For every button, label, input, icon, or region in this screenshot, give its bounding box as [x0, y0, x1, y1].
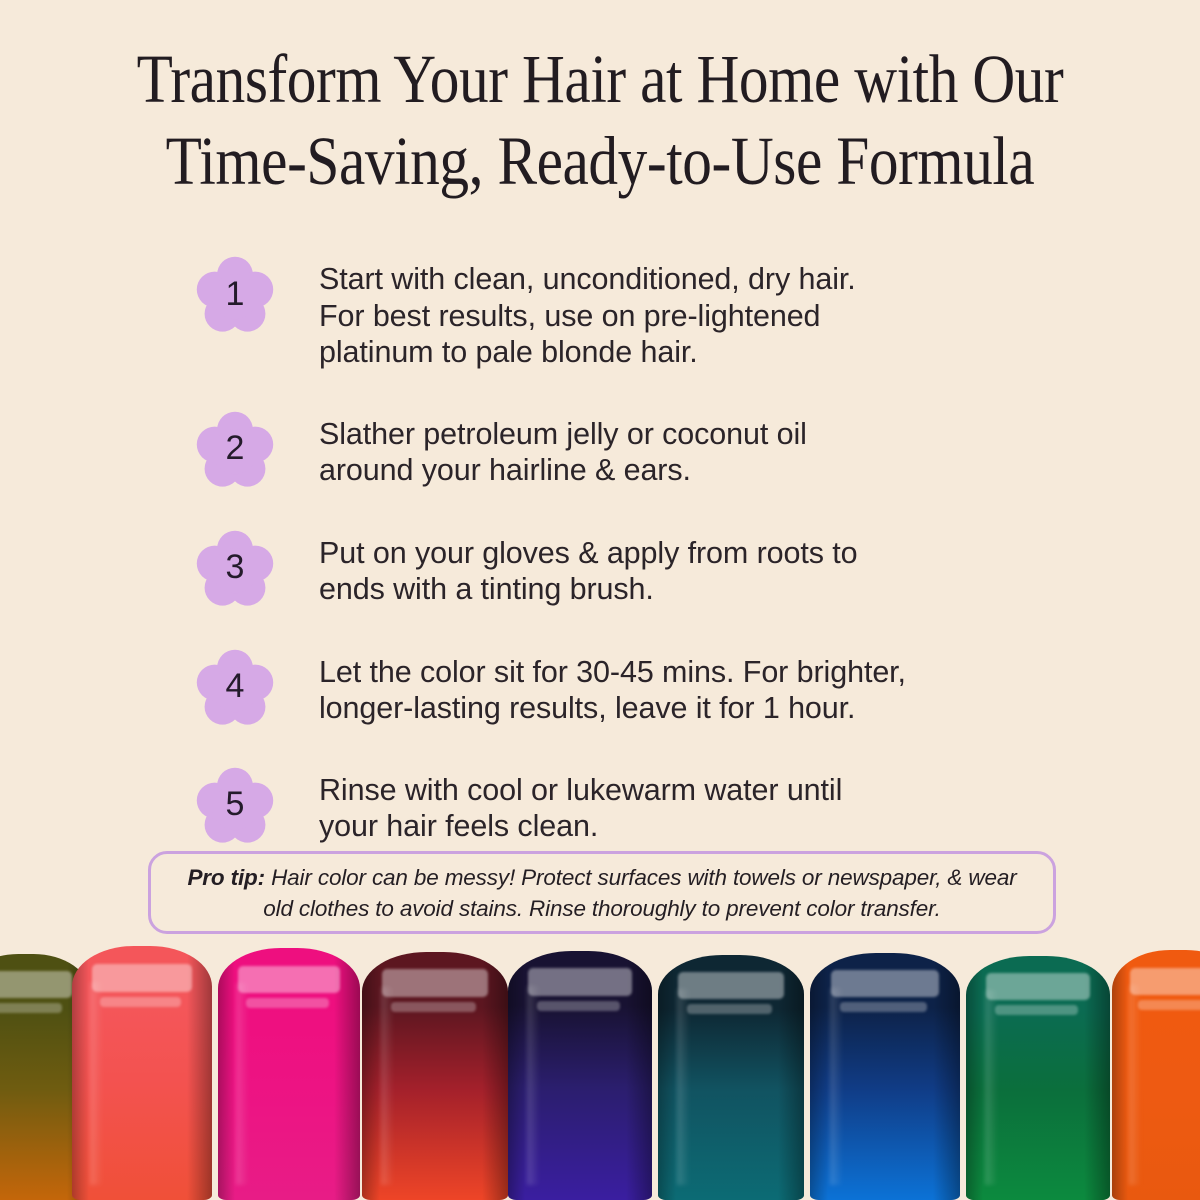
bottle-highlight-top2	[687, 1004, 772, 1014]
bottle-shading-left	[658, 955, 676, 1200]
violet-indigo-bottle	[508, 951, 652, 1200]
bottle-shading-left	[1112, 950, 1128, 1200]
step-number-1: 1	[196, 256, 274, 334]
bottle-shading-left	[362, 952, 380, 1200]
step-item-1: 1 Start with clean, unconditioned, dry h…	[196, 252, 1096, 371]
step-number-2: 2	[196, 411, 274, 489]
step-badge-5: 5	[196, 767, 274, 845]
step-item-3: 3 Put on your gloves & apply from roots …	[196, 526, 1096, 608]
step-number-5: 5	[196, 767, 274, 845]
bottle-highlight-top2	[995, 1005, 1079, 1015]
bottle-shading-left	[966, 956, 983, 1200]
pro-tip-label: Pro tip:	[187, 865, 265, 890]
page-title: Transform Your Hair at Home with Our Tim…	[0, 38, 1200, 202]
bottle-row-image	[0, 942, 1200, 1200]
step-text-3: Put on your gloves & apply from roots to…	[319, 526, 858, 608]
teal-bottle	[658, 955, 804, 1200]
step-item-4: 4 Let the color sit for 30-45 mins. For …	[196, 645, 1096, 727]
bottle-highlight-side	[527, 986, 540, 1185]
bottle-highlight-side	[1129, 985, 1141, 1185]
pro-tip-body: Hair color can be messy! Protect surface…	[263, 865, 1016, 921]
bottle-highlight-side	[90, 982, 103, 1185]
bottle-highlight-top	[1130, 968, 1200, 996]
bottle-highlight-top2	[537, 1001, 621, 1011]
bottle-highlight-top2	[840, 1002, 927, 1012]
step-text-2: Slather petroleum jelly or coconut oil a…	[319, 407, 807, 489]
title-line-1: Transform Your Hair at Home with Our	[136, 38, 1065, 120]
step-item-2: 2 Slather petroleum jelly or coconut oil…	[196, 407, 1096, 489]
bottle-shading-left	[218, 948, 235, 1200]
bottle-highlight-top	[382, 969, 487, 996]
green-bottle	[966, 956, 1110, 1200]
pro-tip-callout: Pro tip: Hair color can be messy! Protec…	[148, 851, 1056, 934]
step-badge-4: 4	[196, 649, 274, 727]
bottle-shading-left	[508, 951, 525, 1200]
bottle-highlight-side	[677, 989, 690, 1185]
step-badge-1: 1	[196, 256, 274, 334]
bottle-highlight-side	[830, 988, 844, 1186]
bottle-highlight-top2	[246, 998, 328, 1008]
bottle-highlight-top2	[0, 1003, 62, 1013]
bottle-highlight-top	[238, 966, 340, 994]
blue-bottle	[810, 953, 960, 1200]
bottle-shading-left	[72, 946, 89, 1200]
bottle-highlight-top2	[1138, 1000, 1200, 1010]
pro-tip-text: Pro tip: Hair color can be messy! Protec…	[177, 862, 1027, 924]
step-number-3: 3	[196, 530, 274, 608]
orange-bottle	[1112, 950, 1200, 1200]
bottle-highlight-top2	[100, 997, 181, 1007]
crimson-wine-bottle	[362, 952, 508, 1200]
bottle-highlight-top	[831, 970, 939, 997]
bottle-highlight-top	[986, 973, 1090, 1000]
infographic-page: Transform Your Hair at Home with Our Tim…	[0, 0, 1200, 1200]
step-badge-2: 2	[196, 411, 274, 489]
step-badge-3: 3	[196, 530, 274, 608]
bottle-shading-left	[810, 953, 828, 1200]
bottle-highlight-top	[678, 972, 783, 999]
steps-list: 1 Start with clean, unconditioned, dry h…	[196, 252, 1096, 845]
bottle-highlight-top	[0, 971, 72, 998]
bottle-highlight-side	[381, 987, 394, 1185]
bottle-highlight-side	[236, 983, 249, 1185]
bottle-highlight-top2	[391, 1002, 476, 1012]
step-text-4: Let the color sit for 30-45 mins. For br…	[319, 645, 906, 727]
step-number-4: 4	[196, 649, 274, 727]
step-item-5: 5 Rinse with cool or lukewarm water unti…	[196, 763, 1096, 845]
bottle-highlight-top	[528, 968, 632, 995]
title-line-2: Time-Saving, Ready-to-Use Formula	[136, 120, 1065, 202]
step-text-5: Rinse with cool or lukewarm water until …	[319, 763, 842, 845]
coral-red-bottle	[72, 946, 212, 1200]
bottle-highlight-side	[985, 990, 998, 1185]
magenta-pink-bottle	[218, 948, 360, 1200]
bottle-highlight-top	[92, 964, 193, 992]
step-text-1: Start with clean, unconditioned, dry hai…	[319, 252, 856, 371]
